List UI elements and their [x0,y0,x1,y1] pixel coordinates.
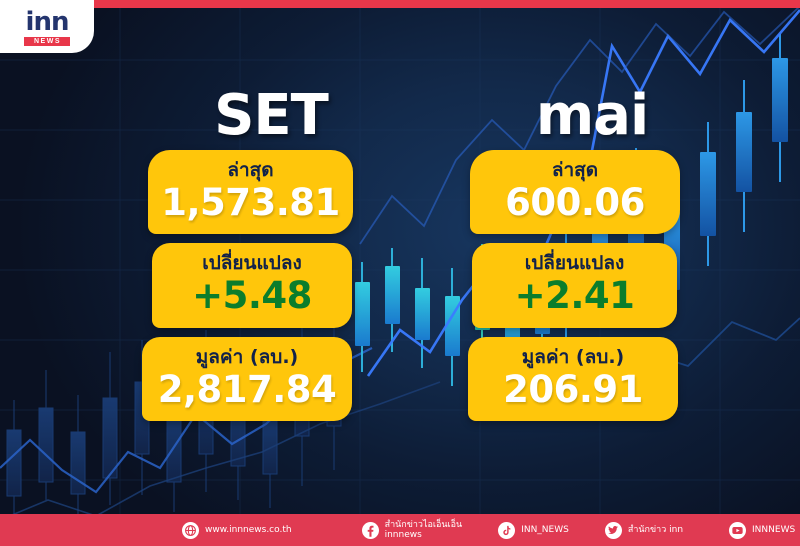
footer-label-website: www.innnews.co.th [205,525,292,535]
footer-item-youtube[interactable]: INNNEWS [729,522,795,539]
card-value-set-change: +5.48 [160,276,344,317]
card-label-mai-turnover: มูลค่า (ลบ.) [476,346,670,370]
logo-wordmark: inn [26,11,69,34]
footer-item-website[interactable]: www.innnews.co.th [182,522,292,539]
globe-icon [182,522,199,539]
top-red-bar [0,0,800,8]
card-set-change: เปลี่ยนแปลง +5.48 [152,243,352,327]
footer-item-tiktok[interactable]: INN_NEWS [498,522,569,539]
card-label-set-change: เปลี่ยนแปลง [160,252,344,276]
footer-label-youtube: INNNEWS [752,525,795,535]
facebook-icon [362,522,379,539]
tiktok-icon [498,522,515,539]
infographic-canvas: inn NEWS SET ล่าสุด 1,573.81 เปลี่ยนแปลง… [0,0,800,546]
index-column-set: SET ล่าสุด 1,573.81 เปลี่ยนแปลง +5.48 มู… [120,88,450,430]
footer-label-facebook-line1: สำนักข่าวไอเอ็นเอ็น [385,520,463,530]
index-column-mai: mai ล่าสุด 600.06 เปลี่ยนแปลง +2.41 มูลค… [450,88,780,430]
card-value-mai-turnover: 206.91 [476,370,670,411]
card-label-set-latest: ล่าสุด [156,159,345,183]
index-title-mai: mai [450,88,780,150]
twitter-icon [605,522,622,539]
youtube-icon [729,522,746,539]
footer-item-twitter[interactable]: สำนักข่าว inn [605,522,683,539]
inn-news-logo[interactable]: inn NEWS [0,0,94,53]
card-value-mai-latest: 600.06 [478,183,672,224]
footer-label-tiktok: INN_NEWS [521,525,569,535]
card-label-mai-change: เปลี่ยนแปลง [480,252,669,276]
index-columns: SET ล่าสุด 1,573.81 เปลี่ยนแปลง +5.48 มู… [0,0,800,546]
card-mai-turnover: มูลค่า (ลบ.) 206.91 [468,337,678,421]
footer-social-bar: www.innnews.co.th สำนักข่าวไอเอ็นเอ็น in… [0,514,800,546]
footer-label-facebook: สำนักข่าวไอเอ็นเอ็น innnews [385,520,463,541]
card-value-set-turnover: 2,817.84 [150,370,344,411]
logo-news-badge: NEWS [24,37,70,46]
card-mai-latest: ล่าสุด 600.06 [470,150,680,234]
card-value-set-latest: 1,573.81 [156,183,345,224]
card-set-latest: ล่าสุด 1,573.81 [148,150,353,234]
index-title-set: SET [120,88,450,150]
footer-label-twitter: สำนักข่าว inn [628,525,683,535]
card-label-mai-latest: ล่าสุด [478,159,672,183]
card-value-mai-change: +2.41 [480,276,669,317]
footer-label-facebook-line2: innnews [385,530,463,540]
card-set-turnover: มูลค่า (ลบ.) 2,817.84 [142,337,352,421]
card-label-set-turnover: มูลค่า (ลบ.) [150,346,344,370]
card-mai-change: เปลี่ยนแปลง +2.41 [472,243,677,327]
footer-item-facebook[interactable]: สำนักข่าวไอเอ็นเอ็น innnews [362,520,463,541]
